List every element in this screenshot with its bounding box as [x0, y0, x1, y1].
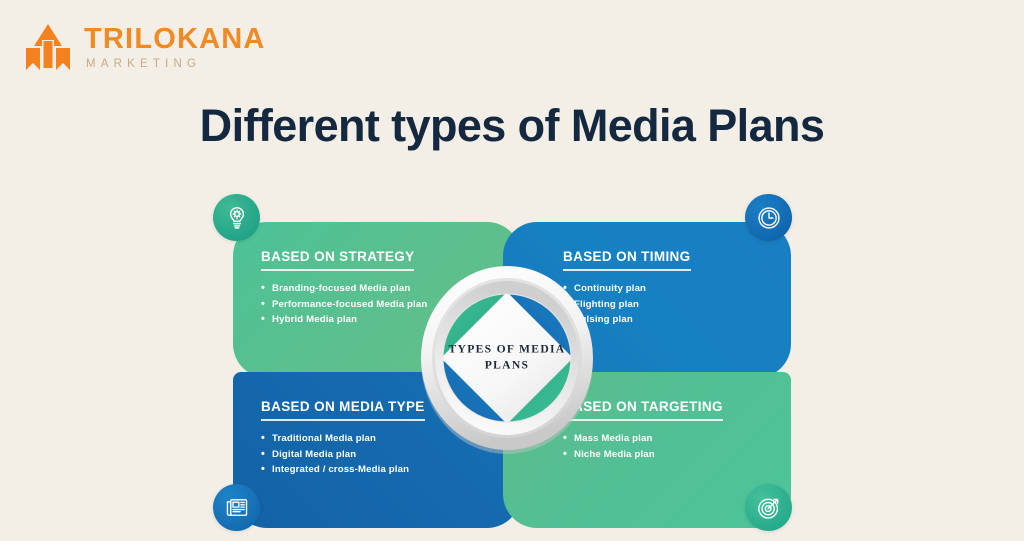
list-item: Integrated / cross-Media plan — [261, 462, 521, 478]
center-emblem: TYPES OF MEDIA PLANS — [414, 260, 600, 456]
clock-icon — [745, 194, 792, 241]
brand-tagline: MARKETING — [86, 59, 266, 71]
brand-name: TRILOKANA — [84, 25, 266, 54]
lightbulb-gear-icon — [213, 194, 260, 241]
panel-media-type-title: BASED ON MEDIA TYPE — [261, 399, 425, 421]
media-plans-diagram: BASED ON STRATEGY Branding-focused Media… — [200, 186, 824, 526]
brand-logo: TRILOKANA MARKETING — [22, 22, 266, 74]
panel-strategy-title: BASED ON STRATEGY — [261, 249, 414, 271]
page-title: Different types of Media Plans — [0, 100, 1024, 152]
trilokana-arrow-logo-icon — [22, 22, 74, 74]
newspaper-icon — [213, 484, 260, 531]
target-arrow-icon — [745, 484, 792, 531]
